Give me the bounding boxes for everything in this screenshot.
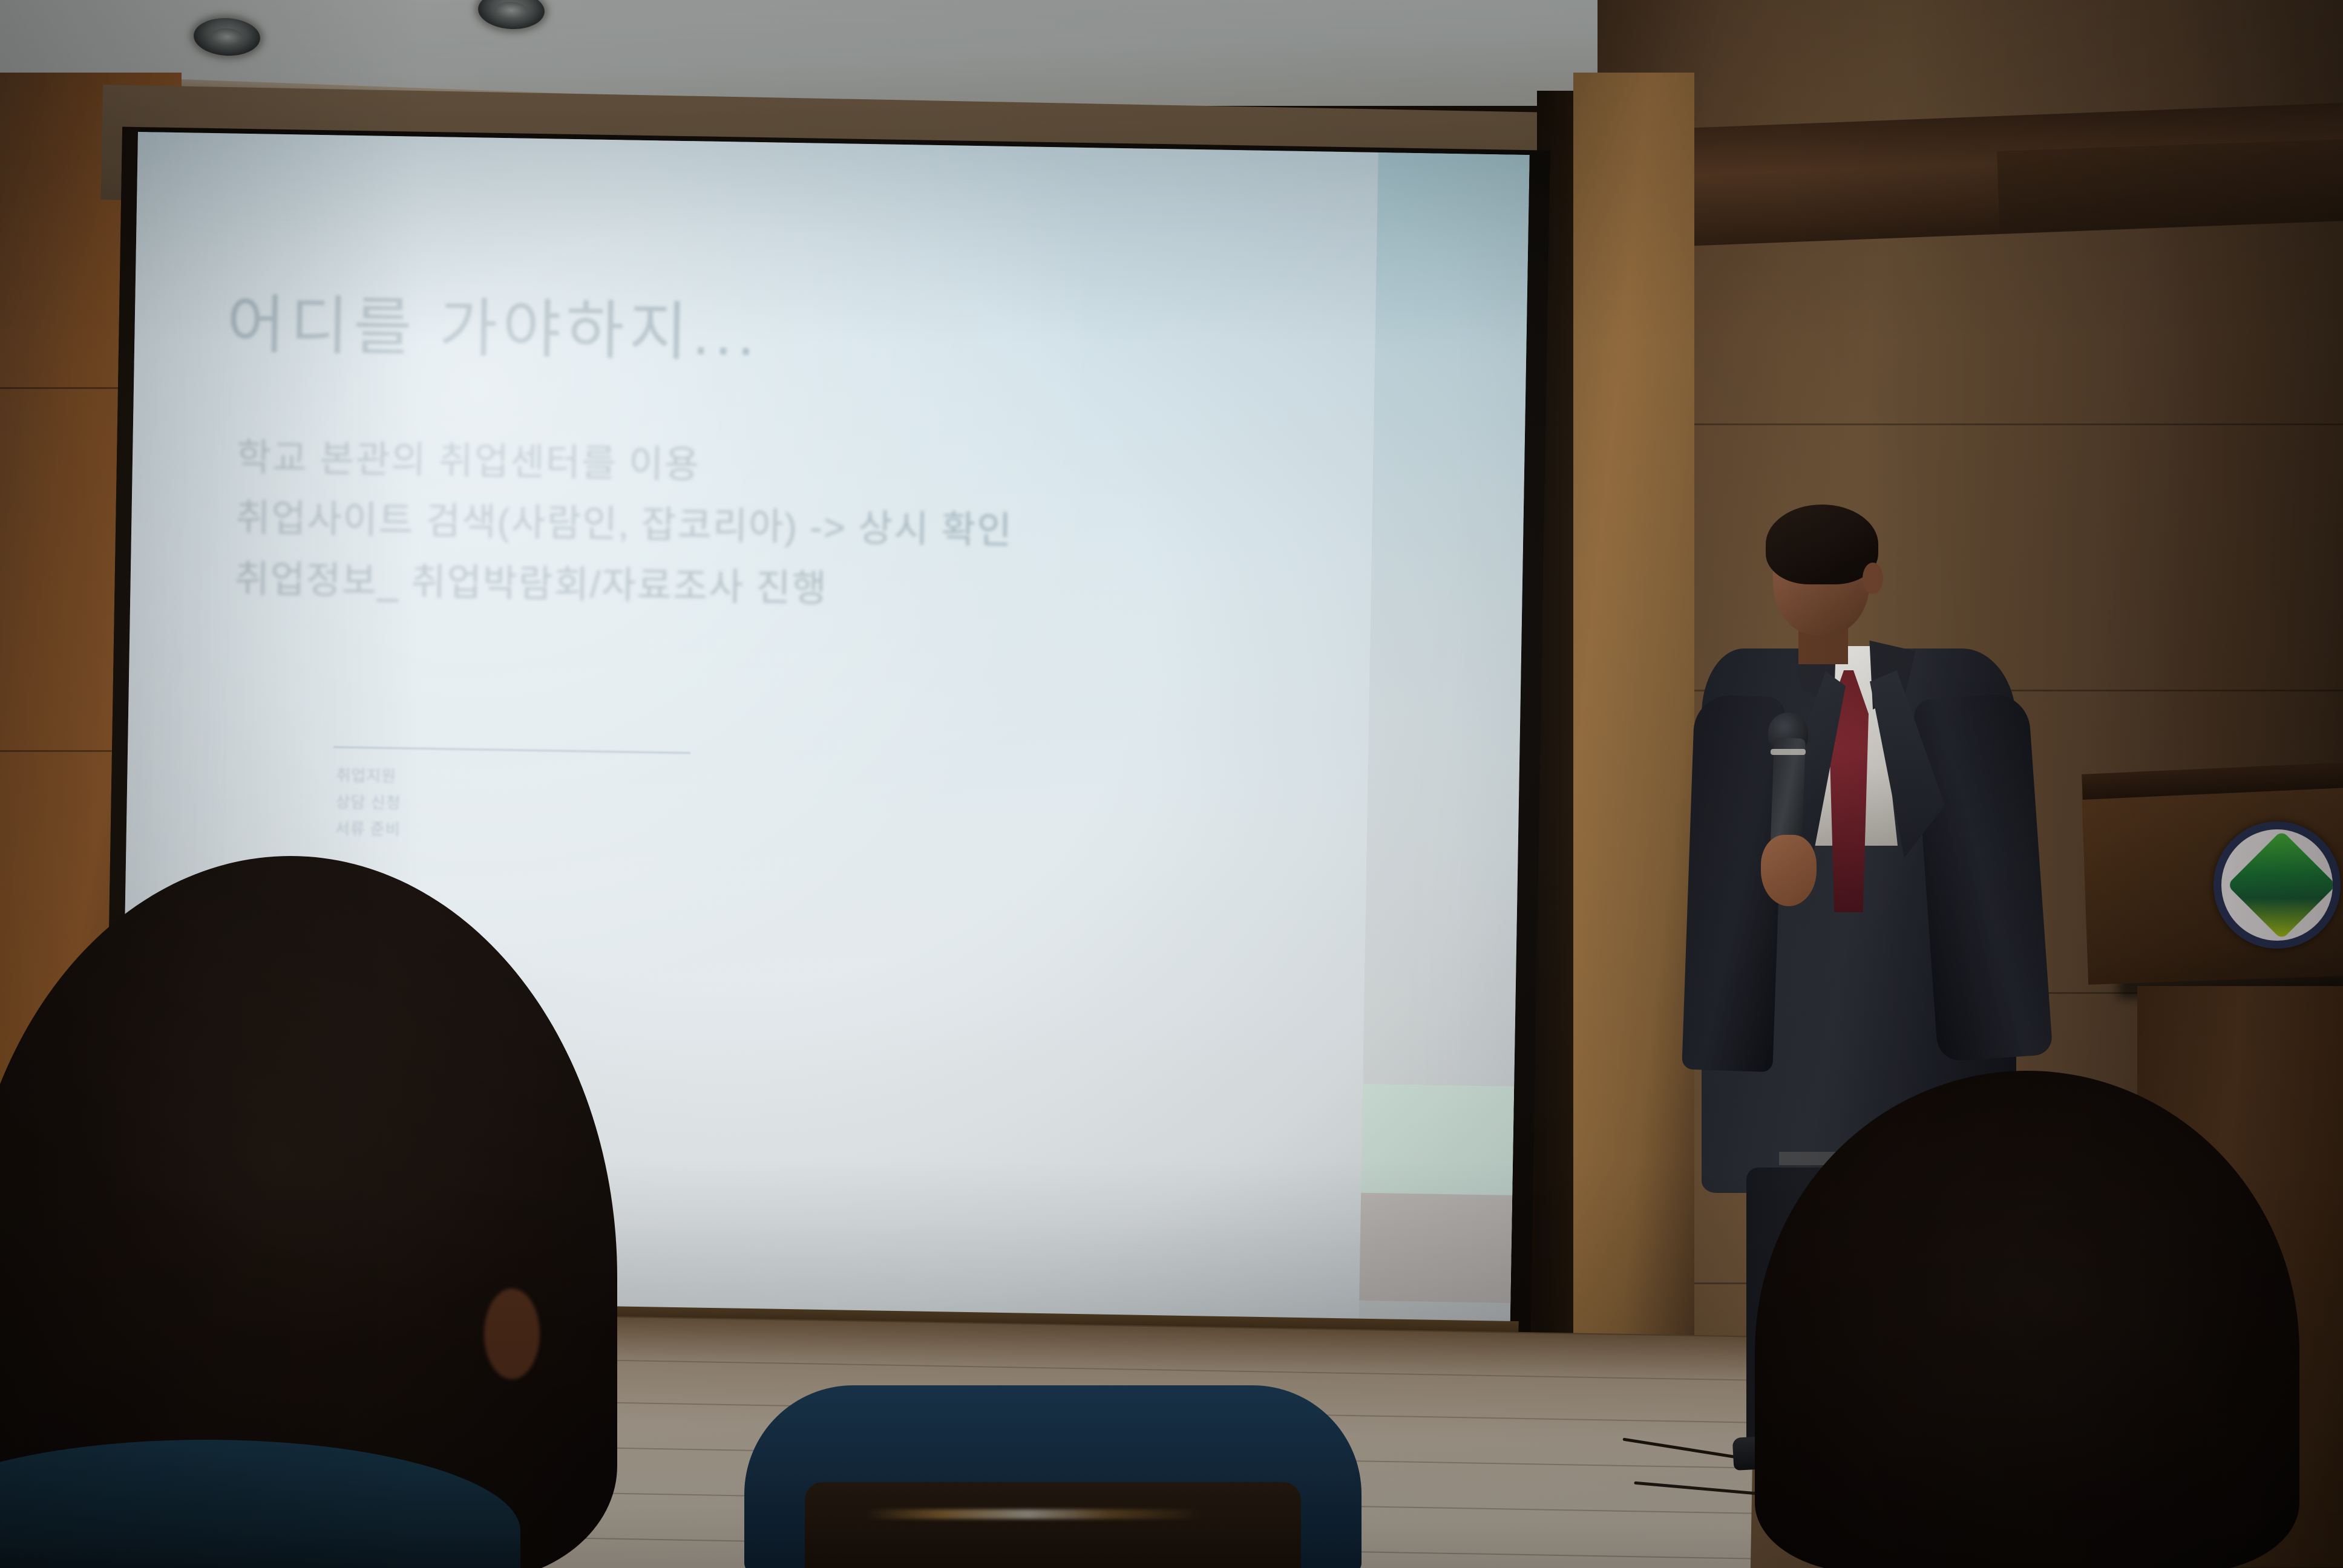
microphone-ring — [1771, 749, 1806, 755]
presenter-hair — [1766, 505, 1878, 584]
presenter-hand — [1761, 835, 1817, 906]
slide-micro-line: 서류 준비 — [335, 815, 401, 843]
audience-member-ear — [484, 1289, 540, 1379]
institution-emblem-icon — [2214, 822, 2341, 949]
slide-accent-taupe-block — [1359, 1193, 1512, 1303]
slide-divider-rule — [333, 746, 690, 754]
presenter-ear — [1863, 563, 1883, 594]
presenter-right-arm — [1913, 692, 2053, 1062]
slide-micro-text: 취업지원 상담 신청 서류 준비 — [335, 762, 402, 843]
slide-accent-mint-block — [1361, 1084, 1514, 1195]
auditorium-seat-cushion — [805, 1482, 1301, 1568]
slide-title: 어디를 가야하지... — [226, 292, 761, 367]
slide-body: 학교 본관의 취업센터를 이용 취업사이트 검색(사람인, 잡코리아) -> 상… — [234, 428, 1387, 629]
wood-pillar — [1573, 73, 1694, 1361]
slide-micro-line: 취업지원 — [336, 762, 402, 790]
slide-micro-line: 상담 신청 — [335, 789, 401, 817]
auditorium-seat-highlight — [865, 1509, 1204, 1519]
lecture-hall-photo: 어디를 가야하지... 학교 본관의 취업센터를 이용 취업사이트 검색(사람인… — [0, 0, 2343, 1568]
ceiling-beam-secondary — [1997, 139, 2343, 233]
